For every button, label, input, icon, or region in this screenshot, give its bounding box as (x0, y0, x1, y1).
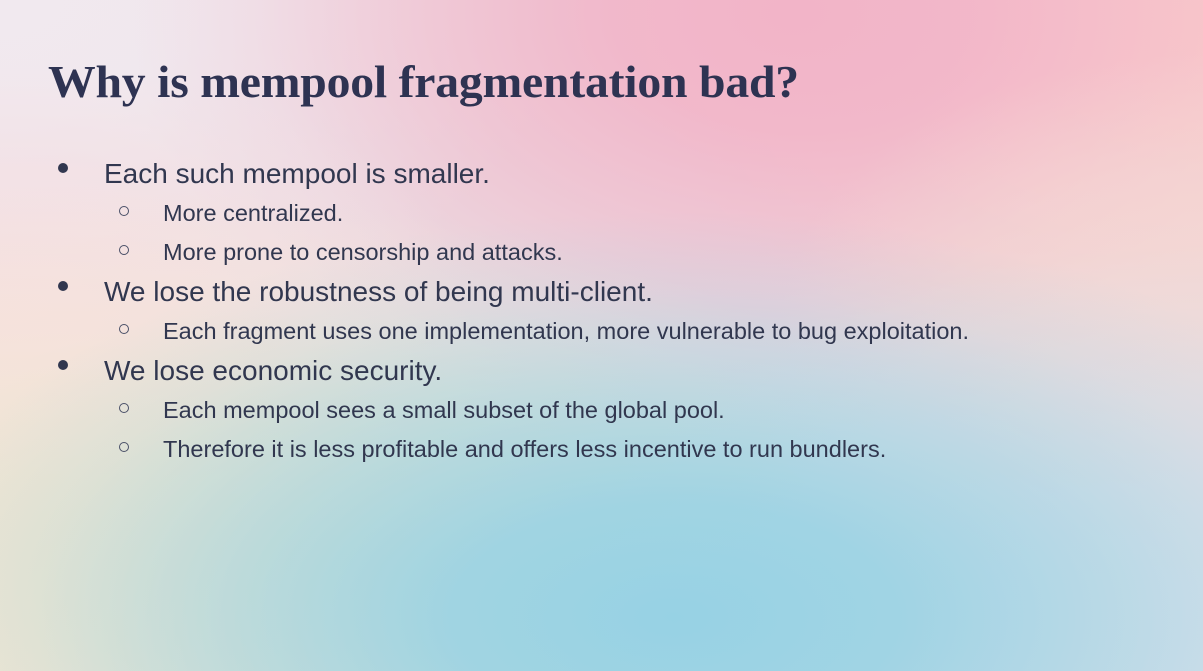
bullet-text: Each mempool sees a small subset of the … (163, 391, 1203, 430)
bullet-item: Therefore it is less profitable and offe… (0, 430, 1203, 469)
bullet-text: More prone to censorship and attacks. (163, 233, 1203, 272)
bullet-list: Each such mempool is smaller.More centra… (0, 154, 1203, 469)
bullet-item: Each fragment uses one implementation, m… (0, 312, 1203, 351)
bullet-item: We lose the robustness of being multi-cl… (0, 272, 1203, 312)
bullet-text: Each such mempool is smaller. (104, 154, 1203, 194)
bullet-item: Each mempool sees a small subset of the … (0, 391, 1203, 430)
bullet-item: We lose economic security. (0, 351, 1203, 391)
bullet-item: More prone to censorship and attacks. (0, 233, 1203, 272)
slide-content: Why is mempool fragmentation bad? Each s… (0, 0, 1203, 671)
bullet-text: Therefore it is less profitable and offe… (163, 430, 1203, 469)
bullet-text: We lose the robustness of being multi-cl… (104, 272, 1203, 312)
bullet-item: Each such mempool is smaller. (0, 154, 1203, 194)
slide-title: Why is mempool fragmentation bad? (48, 57, 799, 107)
bullet-text: We lose economic security. (104, 351, 1203, 391)
presentation-slide: Why is mempool fragmentation bad? Each s… (0, 0, 1203, 671)
bullet-text: Each fragment uses one implementation, m… (163, 312, 1203, 351)
bullet-item: More centralized. (0, 194, 1203, 233)
bullet-text: More centralized. (163, 194, 1203, 233)
